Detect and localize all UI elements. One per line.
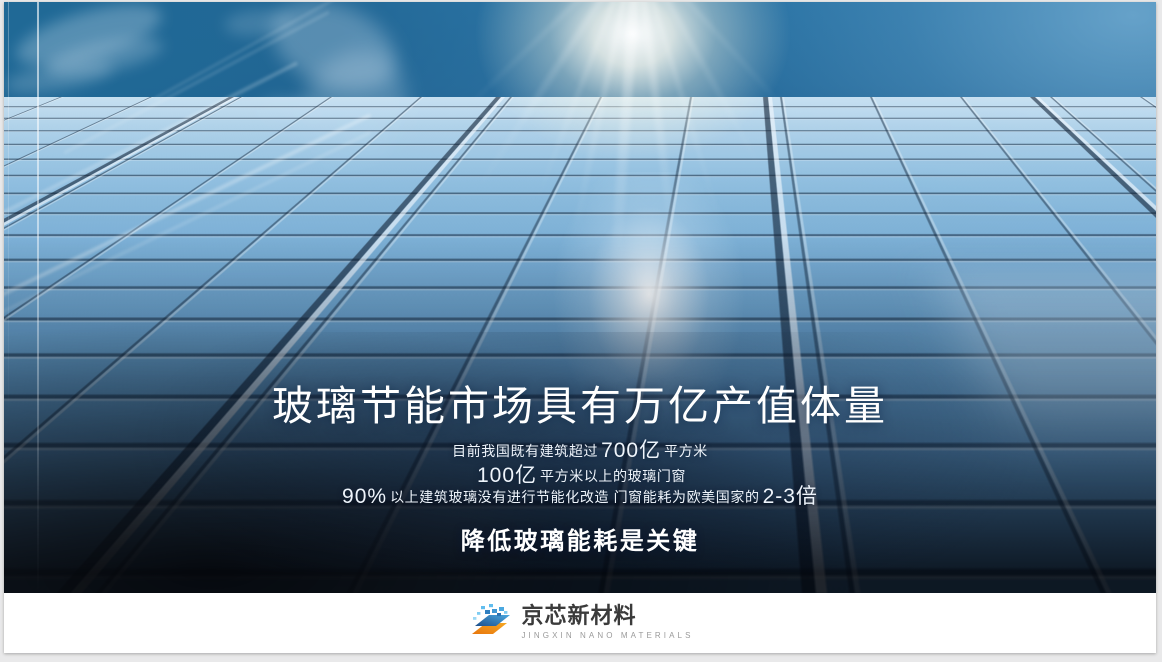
brand-logo: 京芯新材料 JINGXIN NANO MATERIALS (466, 604, 693, 642)
brand-name-en: JINGXIN NANO MATERIALS (521, 632, 693, 640)
stat-3-number-2: 2-3倍 (763, 485, 818, 508)
footer-bar: 京芯新材料 JINGXIN NANO MATERIALS (4, 593, 1156, 653)
presentation-slide: 玻璃节能市场具有万亿产值体量 目前我国既有建筑超过700亿平方米 100亿平方米… (4, 2, 1156, 653)
stat-1-suffix: 平方米 (664, 443, 708, 459)
pixel-swoosh-logo-icon (466, 604, 512, 642)
page-title: 玻璃节能市场具有万亿产值体量 (4, 372, 1156, 432)
stat-line-3: 90%以上建筑玻璃没有进行节能化改造 门窗能耗为欧美国家的2-3倍 (4, 480, 1156, 510)
stat-1-prefix: 目前我国既有建筑超过 (452, 443, 598, 459)
hero-image-glass-skyscraper: 玻璃节能市场具有万亿产值体量 目前我国既有建筑超过700亿平方米 100亿平方米… (4, 2, 1156, 593)
brand-name-cn: 京芯新材料 (521, 606, 693, 628)
brand-logo-text: 京芯新材料 JINGXIN NANO MATERIALS (521, 606, 693, 640)
slide-copy: 玻璃节能市场具有万亿产值体量 目前我国既有建筑超过700亿平方米 100亿平方米… (4, 2, 1156, 593)
tagline: 降低玻璃能耗是关键 (4, 521, 1156, 556)
stat-3-suffix: 以上建筑玻璃没有进行节能化改造 门窗能耗为欧美国家的 (390, 489, 760, 505)
stat-3-number: 90% (342, 485, 387, 508)
